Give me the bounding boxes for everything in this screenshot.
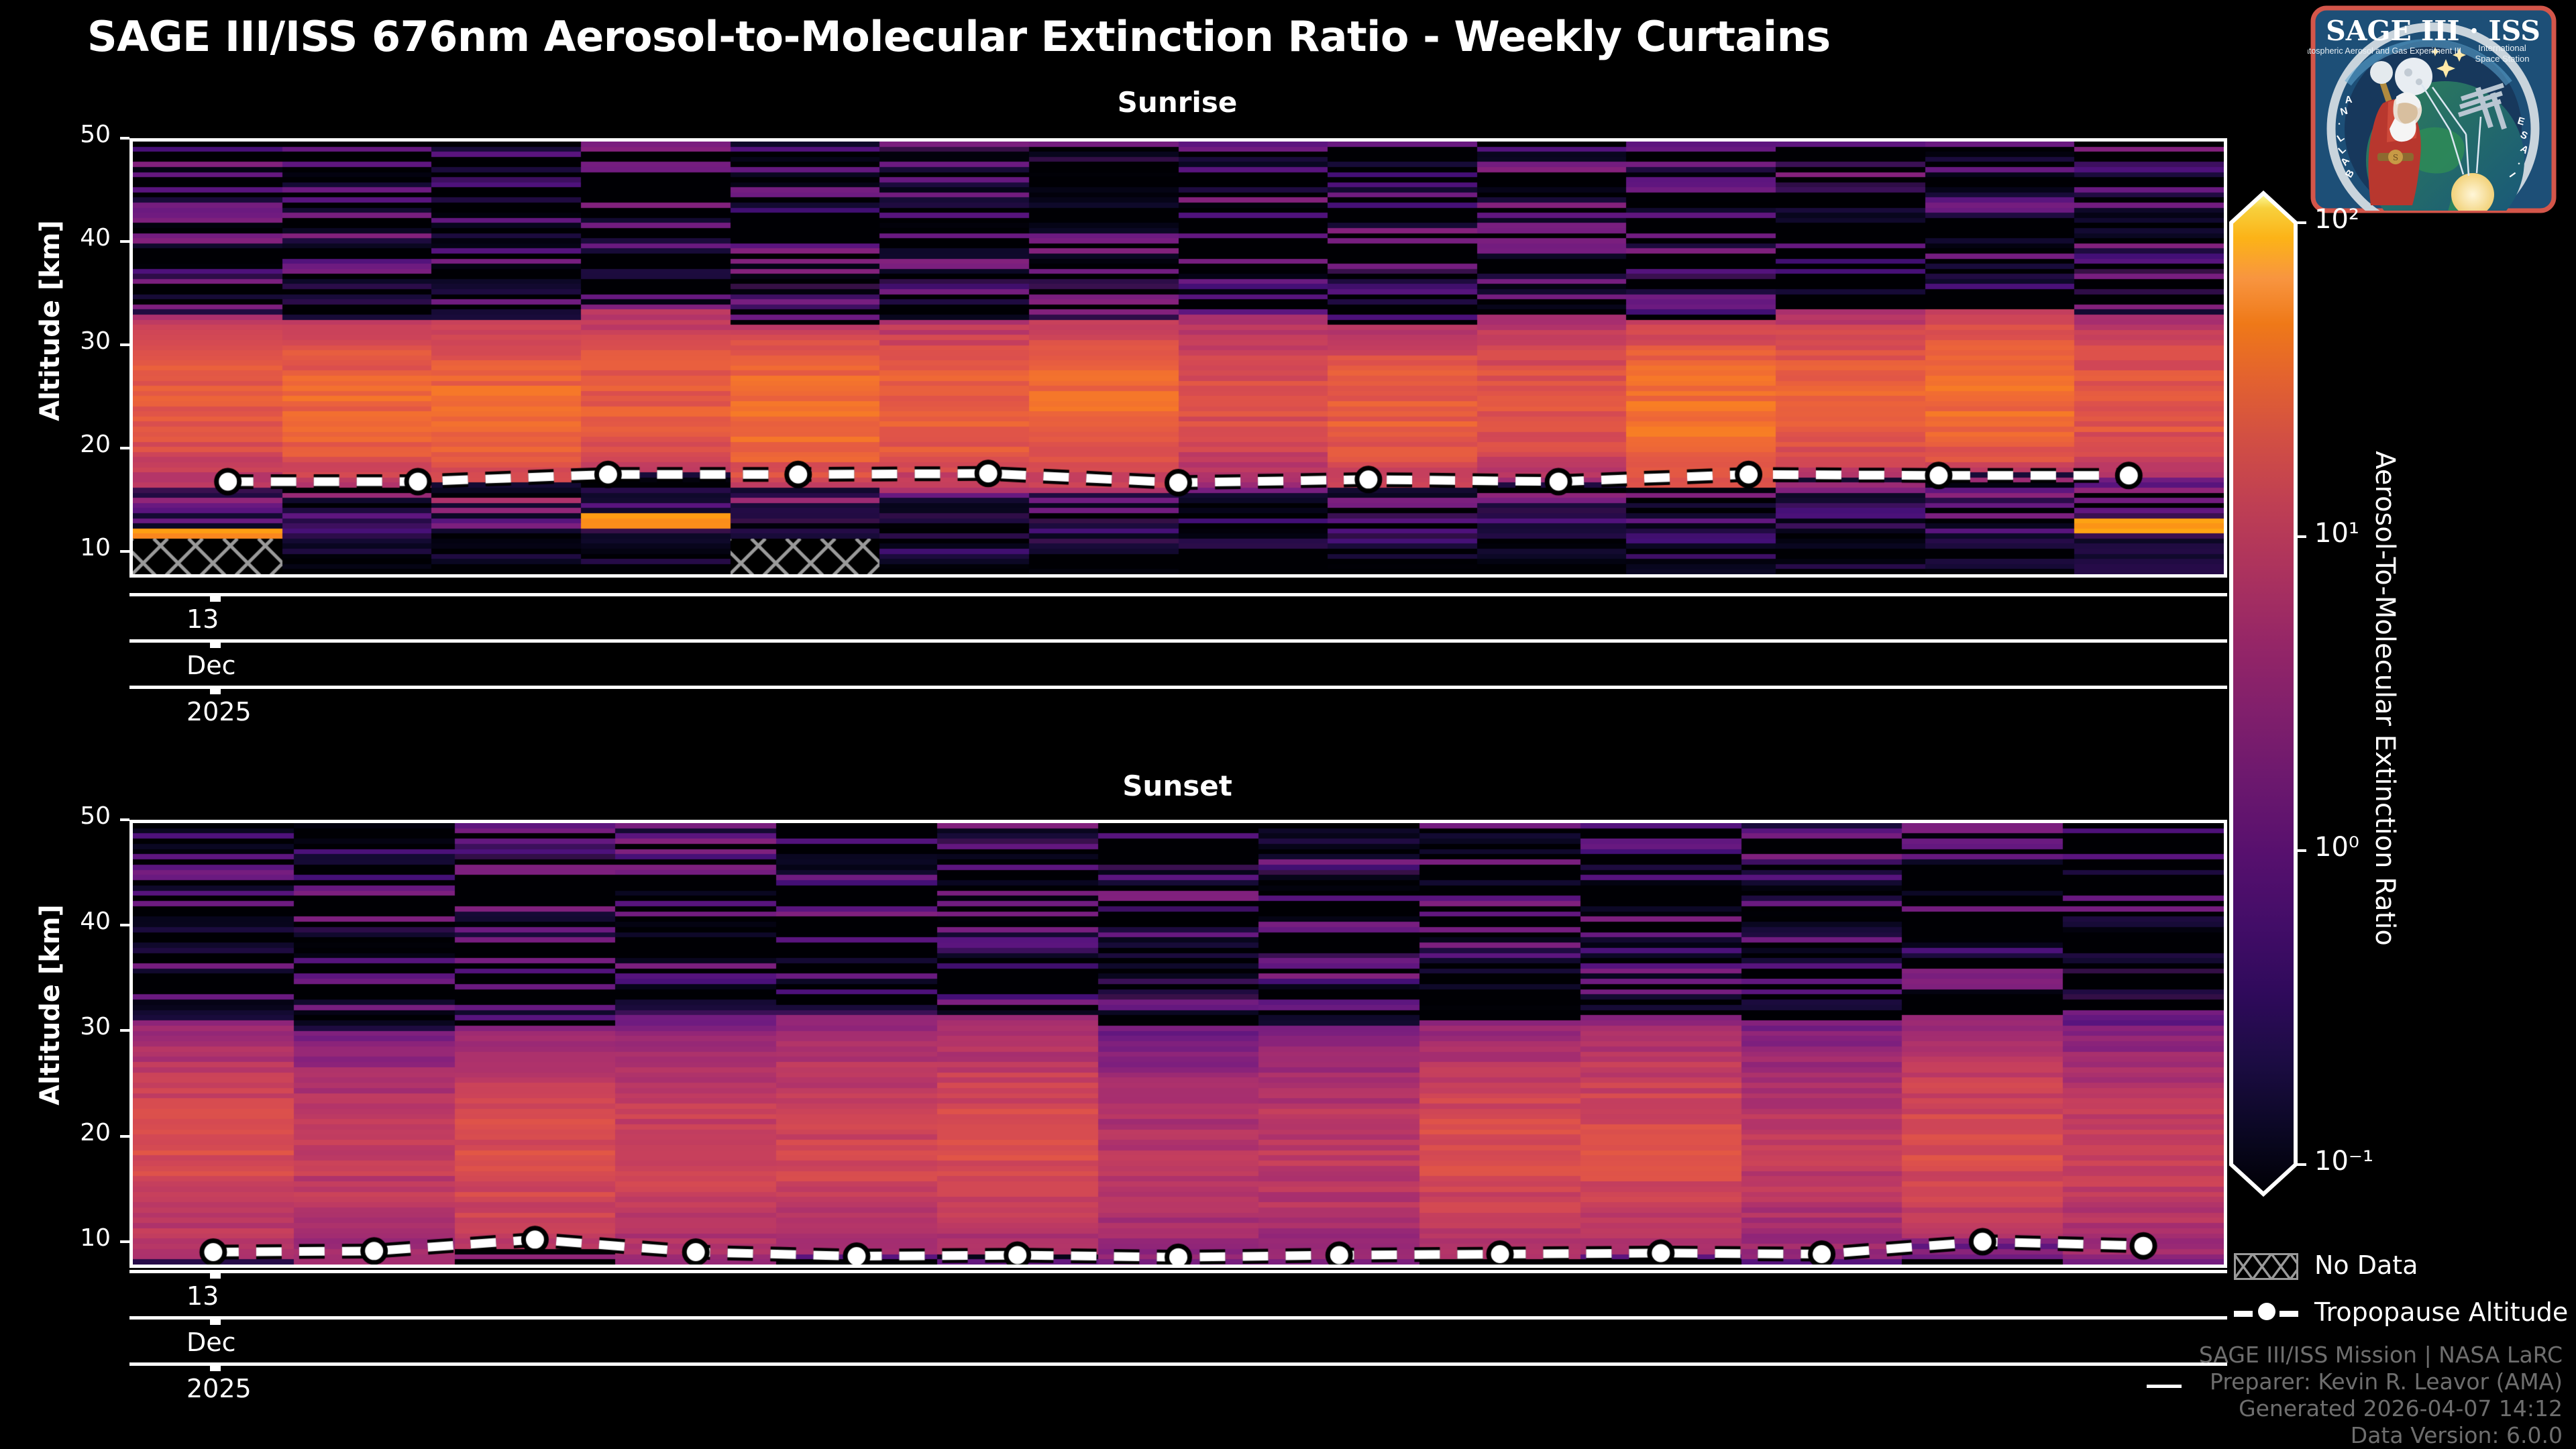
y-tick-label: 40 [37,224,111,252]
y-tick-mark [120,1029,129,1032]
colorbar-tick-mark [2294,221,2306,224]
y-tick-label: 50 [37,802,111,830]
date-axis-tick [210,1270,221,1279]
svg-text:S: S [2393,153,2398,162]
date-axis-tick [210,1316,221,1325]
tropopause-dot-icon [2258,1303,2275,1320]
panel-title-sunrise: Sunrise [127,86,2227,119]
svg-text:A: A [2345,94,2353,106]
footer-credits: SAGE III/ISS Mission | NASA LaRC Prepare… [2199,1342,2563,1449]
sage-iii-iss-logo: S B A L L · N A E S A · I SAGE III · ISS… [2308,3,2559,216]
date-axis-rule [129,593,2227,596]
y-tick-label: 30 [37,327,111,355]
legend-item-no-data: No Data [2234,1248,2569,1287]
y-tick-mark [120,343,129,346]
logo-subtitle-right: International [2478,43,2526,53]
colorbar-tick-label: 10¹ [2314,518,2359,549]
footer-line-generated: Generated 2026-04-07 14:12 [2199,1395,2563,1422]
y-tick-label: 20 [37,431,111,458]
colorbar-tick-label: 10⁻¹ [2314,1146,2373,1177]
y-tick-label: 20 [37,1119,111,1146]
date-axis-tick [210,639,221,648]
page-title: SAGE III/ISS 676nm Aerosol-to-Molecular … [87,12,1831,61]
y-tick-label: 10 [37,1224,111,1252]
colorbar[interactable] [2229,191,2309,1197]
date-axis-rule [129,1362,2227,1366]
date-axis-label: 13 [186,604,219,634]
logo-title: SAGE III · ISS [2326,15,2540,47]
logo-svg: S B A L L · N A E S A · I SAGE III · ISS… [2308,3,2559,216]
date-axis-label: Dec [186,1328,236,1357]
legend-label-no-data: No Data [2314,1250,2418,1280]
y-tick-mark [120,447,129,449]
date-axis-tick [210,686,221,694]
colorbar-title: Aerosol-To-Molecular Extinction Ratio [2369,229,2400,1168]
heatmap-sunrise[interactable] [129,138,2227,578]
no-data-hatch-icon [2234,1253,2298,1280]
y-tick-mark [120,924,129,926]
date-axis-rule [129,1316,2227,1320]
footer-line-mission: SAGE III/ISS Mission | NASA LaRC [2199,1342,2563,1368]
y-tick-label: 40 [37,908,111,935]
logo-subtitle-left: Stratospheric Aerosol and Gas Experiment… [2308,46,2461,56]
footer-line-preparer: Preparer: Kevin R. Leavor (AMA) [2199,1368,2563,1395]
hatch-icon-svg [2236,1255,2296,1278]
date-axis-label: 2025 [186,697,252,727]
colorbar-gradient [2231,193,2296,1194]
legend: No Data Tropopause Altitude [2234,1248,2569,1334]
y-tick-mark [120,818,129,821]
y-tick-mark [120,1240,129,1243]
colorbar-tick-mark [2294,849,2306,852]
colorbar-tick-mark [2294,535,2306,538]
date-axis-tick [210,593,221,602]
y-tick-mark [120,137,129,140]
footer-divider [2147,1385,2182,1388]
panel-title-sunset: Sunset [127,769,2227,802]
footer-line-version: Data Version: 6.0.0 [2199,1422,2563,1449]
date-axis-label: Dec [186,651,236,680]
colorbar-tick-mark [2294,1163,2306,1166]
date-axis-rule [129,1270,2227,1273]
date-axis-rule [129,639,2227,643]
y-tick-mark [120,550,129,553]
colorbar-tick-label: 10⁰ [2314,832,2359,863]
colorbar-tick-label: 10² [2314,204,2359,235]
legend-item-tropopause: Tropopause Altitude [2234,1295,2569,1334]
y-tick-label: 30 [37,1013,111,1040]
date-axis-rule [129,686,2227,689]
legend-label-tropopause: Tropopause Altitude [2314,1297,2568,1327]
y-tick-mark [120,240,129,243]
date-axis-label: 13 [186,1281,219,1311]
logo-subtitle-right-2: Space Station [2475,54,2530,64]
y-tick-label: 10 [37,534,111,561]
heatmap-canvas-sunrise [133,142,2224,574]
date-axis-tick [210,1362,221,1371]
colorbar-svg [2229,191,2309,1197]
y-tick-label: 50 [37,121,111,148]
heatmap-canvas-sunset [133,823,2224,1265]
date-axis-label: 2025 [186,1374,252,1403]
y-tick-mark [120,1135,129,1138]
heatmap-sunset[interactable] [129,820,2227,1268]
